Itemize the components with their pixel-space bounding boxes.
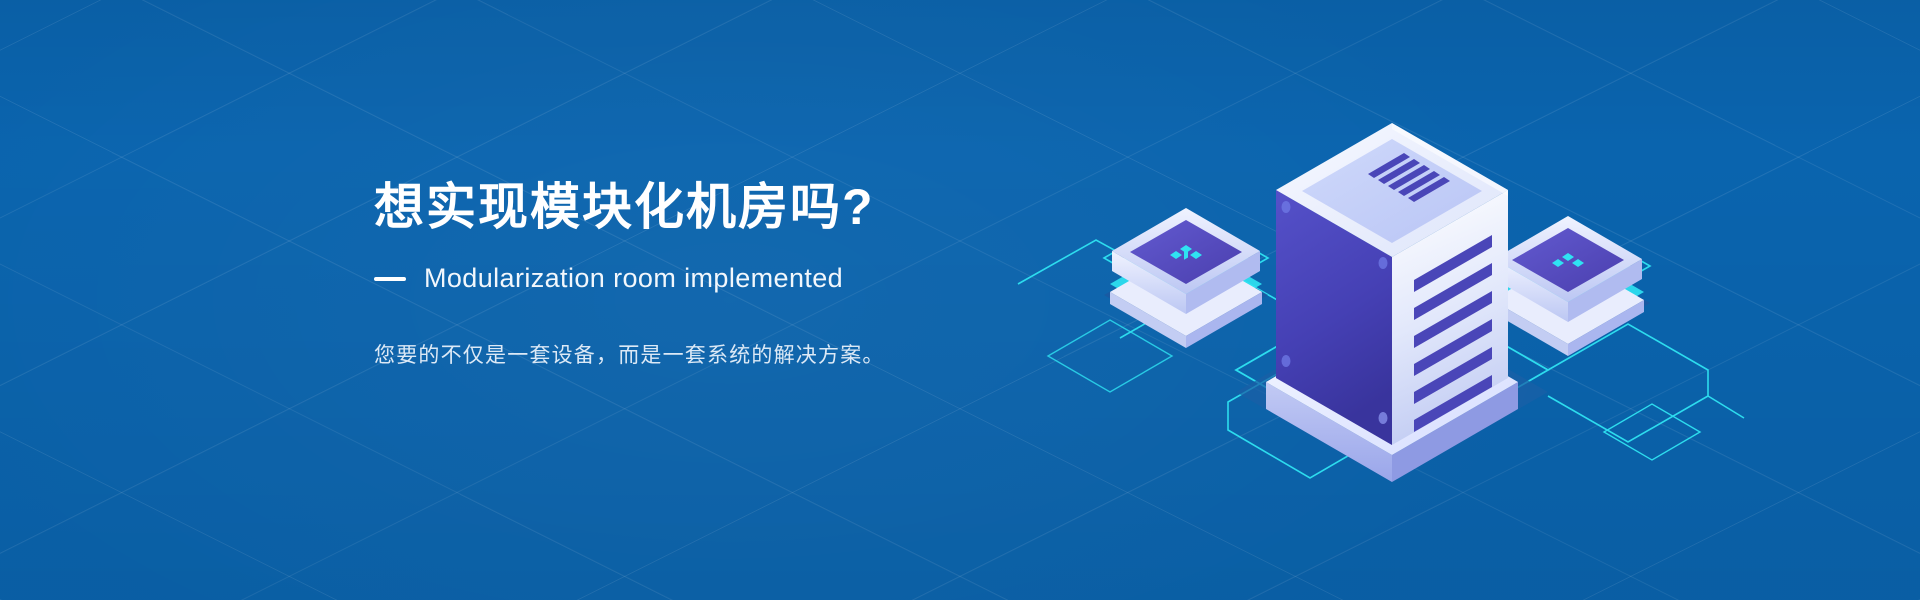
- chip-module-right: [1492, 216, 1644, 356]
- banner-copy-block: 想实现模块化机房吗? Modularization room implement…: [374, 178, 1074, 395]
- subheadline-row: Modularization room implemented: [374, 263, 1074, 294]
- dash-accent-icon: [374, 277, 406, 281]
- circuit-node-diamond-right: [1604, 404, 1700, 460]
- circuit-stub-c: [1708, 396, 1744, 418]
- page-title: 想实现模块化机房吗?: [374, 178, 1074, 237]
- subheadline: Modularization room implemented: [424, 263, 843, 294]
- hero-banner: 想实现模块化机房吗? Modularization room implement…: [0, 0, 1920, 600]
- banner-description: 您要的不仅是一套设备，而是一套系统的解决方案。: [374, 338, 1074, 374]
- chip-module-left: [1110, 208, 1262, 348]
- server-tower: [1266, 123, 1518, 482]
- illustration-server-room: [1000, 70, 1780, 530]
- circuit-node-diamond-left: [1048, 320, 1172, 392]
